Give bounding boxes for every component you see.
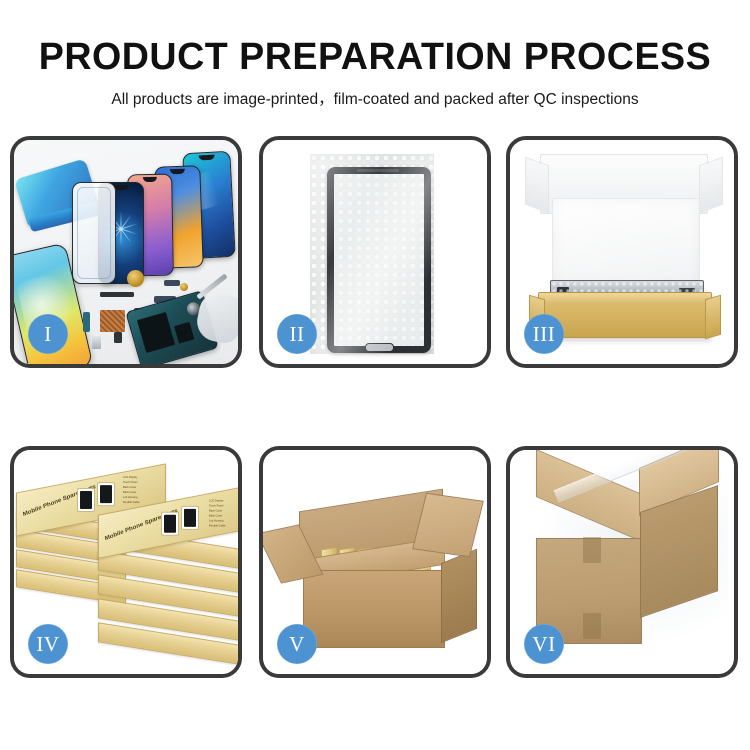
header: PRODUCT PREPARATION PROCESS All products… [0,0,750,109]
carton-side-face [441,549,477,644]
carton-seam-tab-bottom [583,613,601,639]
panel-1-image: I [14,140,238,364]
part-antenna-icon [83,312,90,332]
box-screen-thumb-2 [97,482,115,506]
process-step-panel-6: VI [506,446,738,678]
carton-seam-tab-top [583,537,601,563]
box-screen-thumb-4 [181,506,199,530]
process-step-panel-1: I [10,136,242,368]
process-step-panel-2: II [259,136,491,368]
step-badge-3: III [524,314,564,354]
step-badge-5: V [277,624,317,664]
repair-tool-icon [196,288,238,348]
process-steps-grid: I II [10,136,740,736]
part-speaker-icon [100,292,134,297]
panel-5-image: V [263,450,487,674]
page-subtitle: All products are image-printed，film-coat… [0,78,750,109]
kraft-box-base-icon [538,292,712,338]
part-connector-grid-icon [100,310,125,332]
part-vibrator-icon [127,270,144,287]
step-badge-1: I [28,314,68,354]
step-badge-4: IV [28,624,68,664]
box-screen-thumb-1 [77,488,95,512]
panel-6-image: VI [510,450,734,674]
step-badge-6: VI [524,624,564,664]
part-bracket-icon [92,336,101,349]
process-step-panel-4: Mobile Phone Spare Parts LCD DisplayTouc… [10,446,242,678]
process-step-panel-3: III [506,136,738,368]
part-flex-cable-icon [164,280,180,286]
process-step-panel-5: V [259,446,491,678]
bubble-wrap-icon [310,154,434,354]
box-checklist-2: LCD DisplayTouch PanelBack Cover Back Co… [209,500,225,530]
foam-padding-icon [552,198,700,286]
panel-4-image: Mobile Phone Spare Parts LCD DisplayTouc… [14,450,238,674]
carton-right-flap [412,493,484,557]
carton-front-face [303,570,445,648]
panel-2-image: II [263,140,487,364]
page-title: PRODUCT PREPARATION PROCESS [4,0,747,78]
step-badge-2: II [277,314,317,354]
panel-3-image: III [510,140,734,364]
box-screen-thumb-3 [161,512,179,536]
product-preparation-infographic: PRODUCT PREPARATION PROCESS All products… [0,0,750,750]
tempered-glass-icon [72,182,116,284]
box-checklist-1: LCD DisplayTouch PanelBack Cover Back Co… [123,476,139,506]
plastic-gloss-overlay [310,154,434,354]
part-button-icon [114,332,122,343]
part-gold-contact-icon [180,283,188,291]
